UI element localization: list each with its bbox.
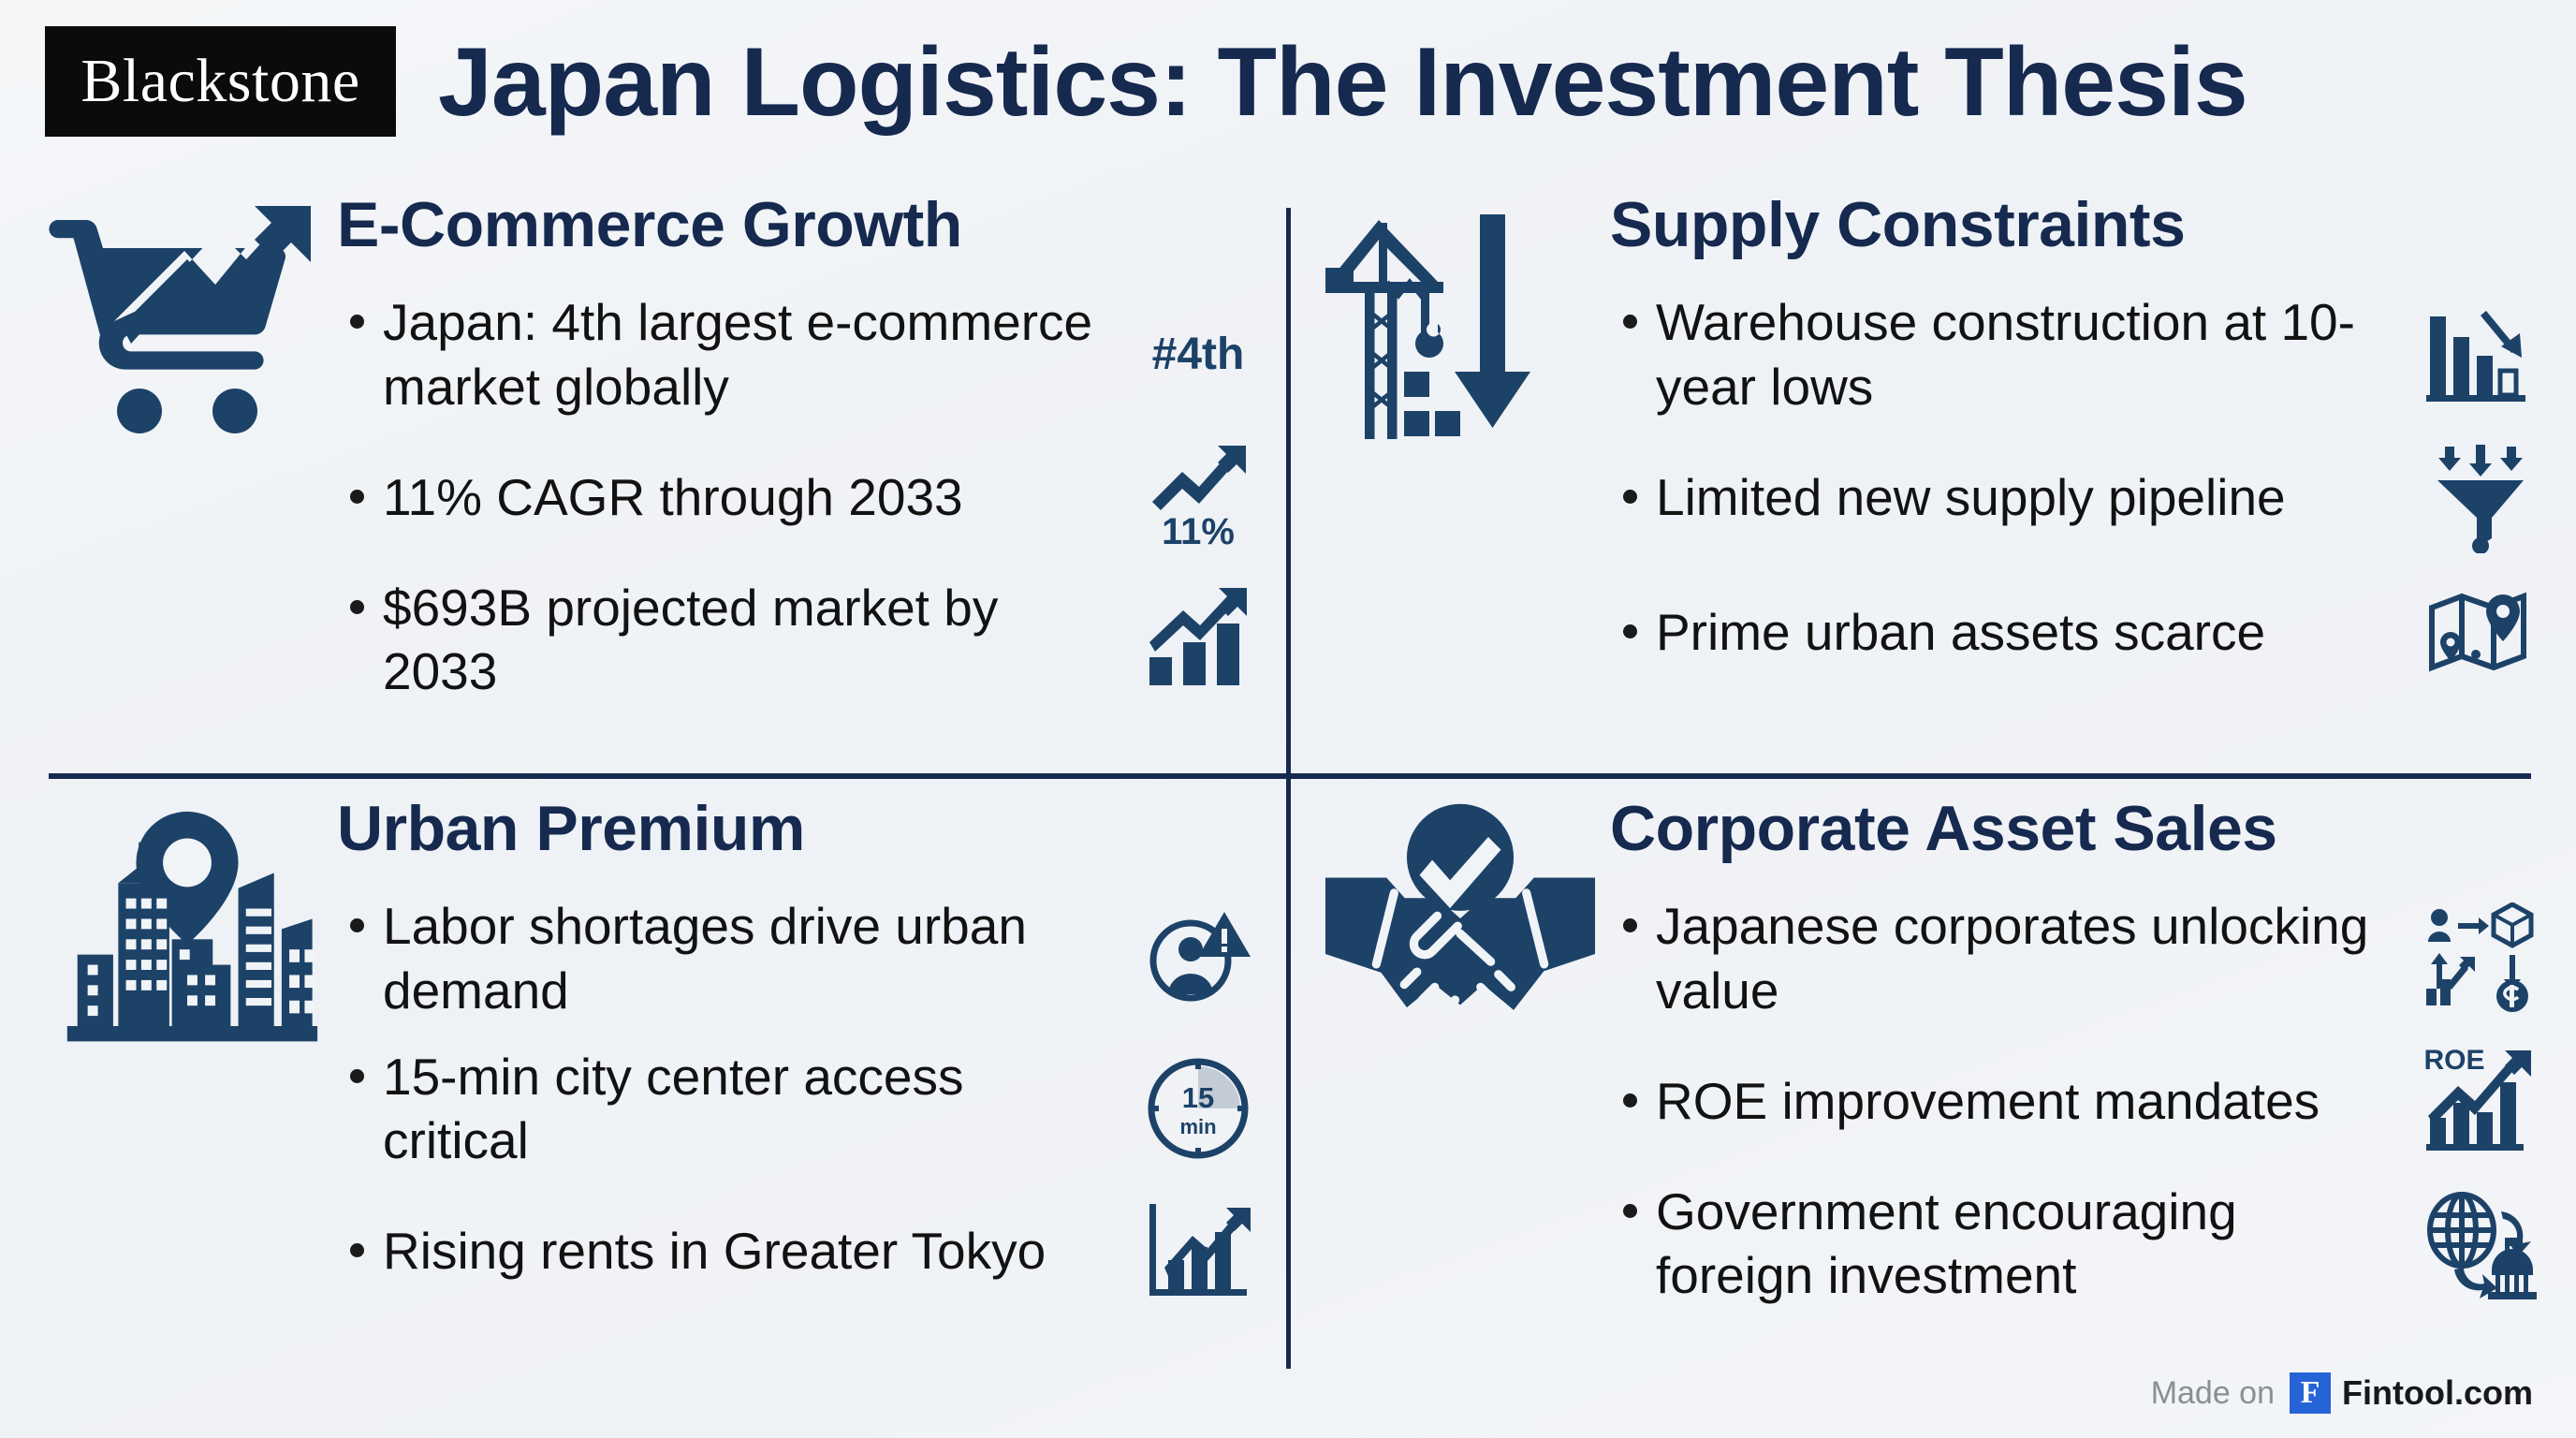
badge-market-size <box>1123 583 1273 696</box>
badge-construction <box>2406 299 2555 411</box>
list-item: 11% CAGR through 2033 11% <box>337 441 1273 553</box>
bullet-dot-icon <box>350 1243 364 1257</box>
bullet-dot-icon <box>1623 315 1637 329</box>
asset-transfer-icon <box>2422 902 2539 1015</box>
map-pins-icon <box>2424 576 2537 688</box>
shopping-cart-growth-icon <box>37 192 337 478</box>
badge-pipeline <box>2406 441 2555 553</box>
trend-up-arrow-icon <box>1147 444 1250 511</box>
bullet-text-wrap: Labor shortages drive urban demand <box>337 894 1114 1021</box>
bullet-list: Japanese corporates unlocking value <box>1610 894 2555 1307</box>
bullet-text-wrap: 15-min city center access critical <box>337 1045 1114 1172</box>
badge-label: #4th <box>1152 332 1245 377</box>
quadrant-body: E-Commerce Growth Japan: 4th largest e-c… <box>337 192 1273 726</box>
fintool-brand-name: Fintool.com <box>2342 1373 2533 1413</box>
fintool-logo-letter: F <box>2301 1377 2320 1409</box>
badge-15-min: 15 min <box>1123 1052 1273 1165</box>
badge-rank: #4th <box>1123 299 1273 411</box>
quadrant-supply-constraints: Supply Constraints Warehouse constructio… <box>1310 192 2555 763</box>
bullet-text-wrap: Japanese corporates unlocking value <box>1610 894 2396 1021</box>
blackstone-logo-text: Blackstone <box>80 51 359 112</box>
footer-made-on-label: Made on <box>2151 1375 2275 1412</box>
blackstone-logo: Blackstone <box>45 26 396 137</box>
badge-roe: ROE <box>2406 1045 2555 1157</box>
bullet-text-wrap: ROE improvement mandates <box>1610 1069 2396 1133</box>
bullet-text-wrap: Limited new supply pipeline <box>1610 465 2396 529</box>
bar-chart-down-icon <box>2424 303 2537 406</box>
badge-label: 11% <box>1162 513 1235 550</box>
quadrant-heading: Corporate Asset Sales <box>1610 796 2555 862</box>
badge-urban-assets <box>2406 576 2555 688</box>
bullet-dot-icon <box>350 600 364 614</box>
globe-government-icon <box>2422 1185 2539 1301</box>
bullet-list: Labor shortages drive urban demand <box>337 894 1273 1307</box>
header: Blackstone Japan Logistics: The Investme… <box>0 0 2576 187</box>
worker-alert-icon <box>1142 902 1254 1015</box>
funnel-icon <box>2424 441 2537 553</box>
bullet-text: Government encouraging foreign investmen… <box>1656 1180 2396 1307</box>
bullet-dot-icon <box>350 490 364 504</box>
quadrant-body: Supply Constraints Warehouse constructio… <box>1610 192 2555 711</box>
quadrant-body: Urban Premium Labor shortages drive urba… <box>337 796 1273 1329</box>
bullet-list: Japan: 4th largest e-commerce market glo… <box>337 290 1273 703</box>
bullet-text: Limited new supply pipeline <box>1656 465 2286 529</box>
bullet-text-wrap: Prime urban assets scarce <box>1610 600 2396 664</box>
footer-attribution: Made on F Fintool.com <box>2151 1372 2533 1414</box>
quadrant-corporate-asset-sales: Corporate Asset Sales Japanese corporate… <box>1310 796 2555 1376</box>
bullet-dot-icon <box>1623 1204 1637 1218</box>
svg-text:min: min <box>1179 1115 1216 1138</box>
list-item: Labor shortages drive urban demand <box>337 894 1273 1021</box>
bullet-text: $693B projected market by 2033 <box>383 576 1114 703</box>
badge-unlocking-value <box>2406 902 2555 1015</box>
handshake-check-icon <box>1310 796 1610 1082</box>
list-item: Japanese corporates unlocking value <box>1610 894 2555 1021</box>
svg-text:ROE: ROE <box>2423 1045 2484 1076</box>
bullet-text: Labor shortages drive urban demand <box>383 894 1114 1021</box>
city-skyline-pin-icon <box>37 796 337 1082</box>
bullet-text-wrap: 11% CAGR through 2033 <box>337 465 1114 529</box>
bullet-dot-icon <box>1623 918 1637 932</box>
list-item: Warehouse construction at 10-year lows <box>1610 290 2555 418</box>
bullet-dot-icon <box>350 1069 364 1083</box>
quadrant-e-commerce-growth: E-Commerce Growth Japan: 4th largest e-c… <box>37 192 1273 763</box>
bullet-list: Warehouse construction at 10-year lows <box>1610 290 2555 687</box>
bullet-text: Prime urban assets scarce <box>1656 600 2265 664</box>
roe-chart-icon: ROE <box>2422 1045 2539 1157</box>
quadrant-heading: E-Commerce Growth <box>337 192 1273 258</box>
horizontal-divider <box>49 773 2531 779</box>
list-item: Rising rents in Greater Tokyo <box>337 1195 1273 1307</box>
bullet-text-wrap: Japan: 4th largest e-commerce market glo… <box>337 290 1114 418</box>
bullet-text: ROE improvement mandates <box>1656 1069 2320 1133</box>
list-item: $693B projected market by 2033 <box>337 576 1273 703</box>
list-item: ROE improvement mandates ROE <box>1610 1045 2555 1157</box>
quadrant-heading: Supply Constraints <box>1610 192 2555 258</box>
bullet-text: 15-min city center access critical <box>383 1045 1114 1172</box>
list-item: Limited new supply pipeline <box>1610 441 2555 553</box>
bullet-dot-icon <box>1623 490 1637 504</box>
rising-rent-chart-icon <box>1142 1195 1254 1307</box>
quadrant-heading: Urban Premium <box>337 796 1273 862</box>
page-title: Japan Logistics: The Investment Thesis <box>438 28 2247 137</box>
list-item: Government encouraging foreign investmen… <box>1610 1180 2555 1307</box>
infographic-canvas: Blackstone Japan Logistics: The Investme… <box>0 0 2576 1438</box>
bullet-text: Warehouse construction at 10-year lows <box>1656 290 2396 418</box>
bullet-text: 11% CAGR through 2033 <box>383 465 963 529</box>
badge-labor-shortage <box>1123 902 1273 1015</box>
fintool-logo-icon: F <box>2290 1372 2331 1414</box>
list-item: 15-min city center access critical <box>337 1045 1273 1172</box>
quadrant-body: Corporate Asset Sales Japanese corporate… <box>1610 796 2555 1329</box>
badge-foreign-investment <box>2406 1187 2555 1299</box>
bullet-dot-icon <box>350 315 364 329</box>
list-item: Prime urban assets scarce <box>1610 576 2555 688</box>
quadrant-urban-premium: Urban Premium Labor shortages drive urba… <box>37 796 1273 1376</box>
bullet-text: Rising rents in Greater Tokyo <box>383 1219 1046 1283</box>
vertical-divider <box>1286 208 1291 1369</box>
bullet-text: Japanese corporates unlocking value <box>1656 894 2396 1021</box>
bar-chart-up-icon <box>1142 588 1254 691</box>
bullet-dot-icon <box>1623 624 1637 638</box>
bullet-dot-icon <box>350 918 364 932</box>
bullet-text-wrap: Rising rents in Greater Tokyo <box>337 1219 1114 1283</box>
list-item: Japan: 4th largest e-commerce market glo… <box>337 290 1273 418</box>
bullet-text-wrap: $693B projected market by 2033 <box>337 576 1114 703</box>
svg-text:15: 15 <box>1182 1081 1214 1114</box>
badge-rising-rents <box>1123 1195 1273 1307</box>
bullet-text-wrap: Warehouse construction at 10-year lows <box>1610 290 2396 418</box>
clock-15min-icon: 15 min <box>1143 1053 1253 1164</box>
bullet-text-wrap: Government encouraging foreign investmen… <box>1610 1180 2396 1307</box>
crane-down-arrow-icon <box>1310 192 1610 478</box>
bullet-text: Japan: 4th largest e-commerce market glo… <box>383 290 1114 418</box>
bullet-dot-icon <box>1623 1093 1637 1108</box>
badge-cagr: 11% <box>1123 441 1273 553</box>
